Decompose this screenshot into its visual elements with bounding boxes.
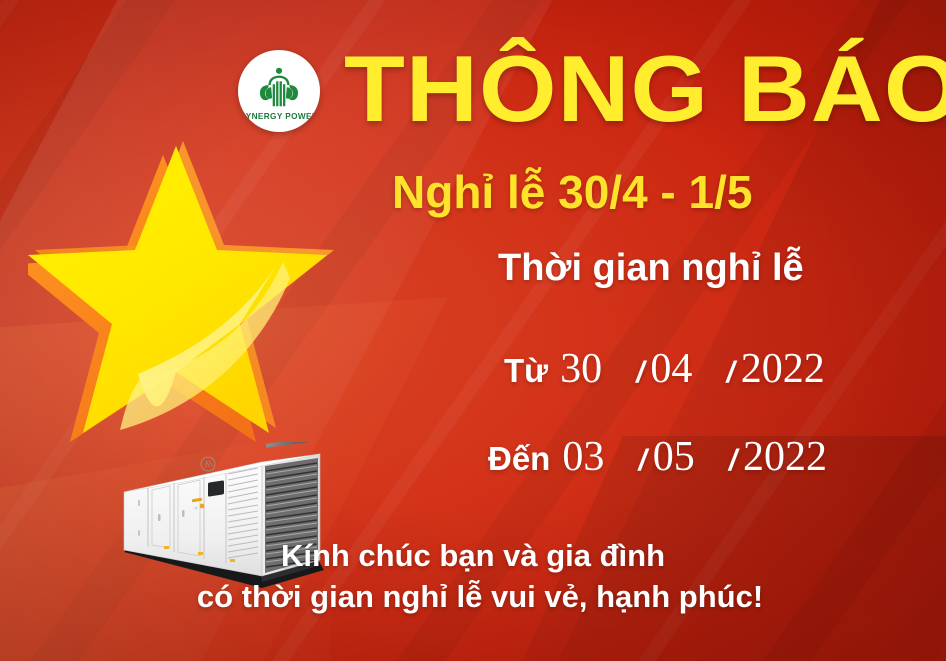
date-from-label: Từ (504, 352, 548, 390)
date-from-month: 04 (650, 345, 692, 393)
gold-star-icon (28, 138, 358, 478)
tree-building-icon (256, 66, 302, 112)
wish-line-2: có thời gian nghỉ lễ vui vẻ, hạnh phúc! (0, 577, 946, 618)
logo-brand-text: SYNERGY POWER (240, 112, 318, 121)
date-from-day: 30 (560, 345, 602, 393)
page-subtitle: Nghỉ lễ 30/4 - 1/5 (392, 167, 752, 218)
date-to-label: Đến (488, 440, 550, 478)
wish-message: Kính chúc bạn và gia đình có thời gian n… (0, 536, 946, 618)
wish-line-1: Kính chúc bạn và gia đình (0, 536, 946, 577)
date-from-separator-2: / (726, 356, 734, 390)
date-to-day: 03 (562, 433, 604, 481)
date-row-to: Đến 03 / 05 / 2022 (488, 433, 827, 481)
section-label: Thời gian nghỉ lễ (498, 248, 804, 290)
announcement-poster: SYNERGY POWER THÔNG BÁO Nghỉ lễ 30/4 - 1… (0, 0, 946, 661)
date-from-year: 2022 (741, 345, 825, 393)
page-title: THÔNG BÁO (344, 42, 946, 136)
date-to-separator-2: / (729, 444, 737, 478)
date-to-separator-1: / (638, 444, 646, 478)
date-row-from: Từ 30 / 04 / 2022 (504, 345, 825, 393)
date-to-month: 05 (653, 433, 695, 481)
synergy-power-logo: SYNERGY POWER (238, 50, 320, 132)
date-from-separator-1: / (636, 356, 644, 390)
date-to-year: 2022 (743, 433, 827, 481)
